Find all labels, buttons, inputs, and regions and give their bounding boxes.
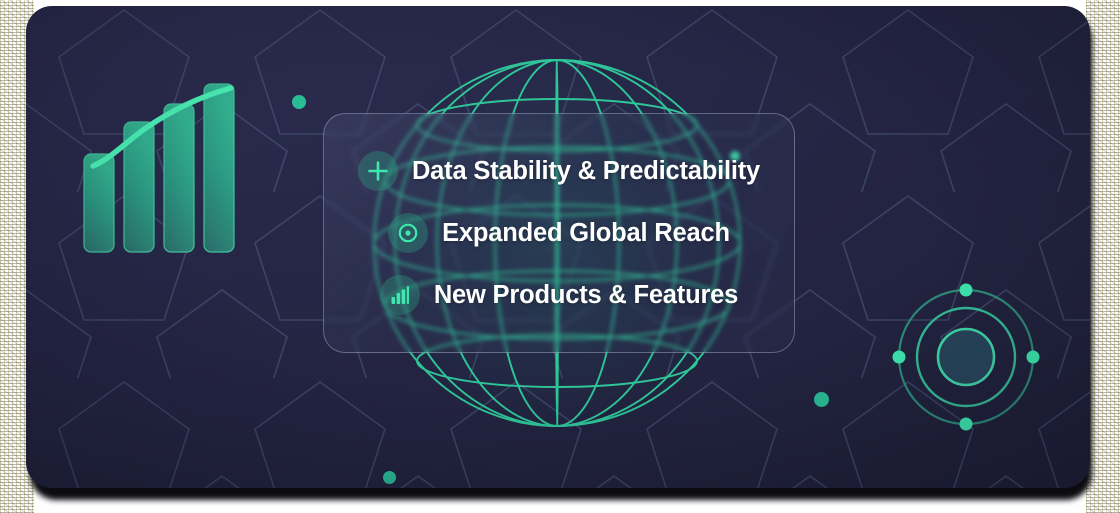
scatter-dot	[383, 471, 396, 484]
feature-row-data-stability[interactable]: Data Stability & Predictability	[358, 151, 760, 191]
feature-row-new-products[interactable]: New Products & Features	[380, 275, 738, 315]
feature-row-global-reach[interactable]: Expanded Global Reach	[388, 213, 730, 253]
feature-label: Expanded Global Reach	[442, 219, 730, 248]
target-icon	[388, 213, 428, 253]
dark-panel: Data Stability & Predictability Expanded…	[26, 6, 1090, 488]
scatter-dot	[292, 95, 306, 109]
feature-card: Data Stability & Predictability Expanded…	[323, 113, 795, 353]
scatter-dot	[814, 392, 829, 407]
feature-label: Data Stability & Predictability	[412, 157, 760, 186]
bar-chart-icon	[380, 275, 420, 315]
banner-stage: Data Stability & Predictability Expanded…	[0, 0, 1120, 513]
plus-icon	[358, 151, 398, 191]
feature-label: New Products & Features	[434, 281, 738, 310]
